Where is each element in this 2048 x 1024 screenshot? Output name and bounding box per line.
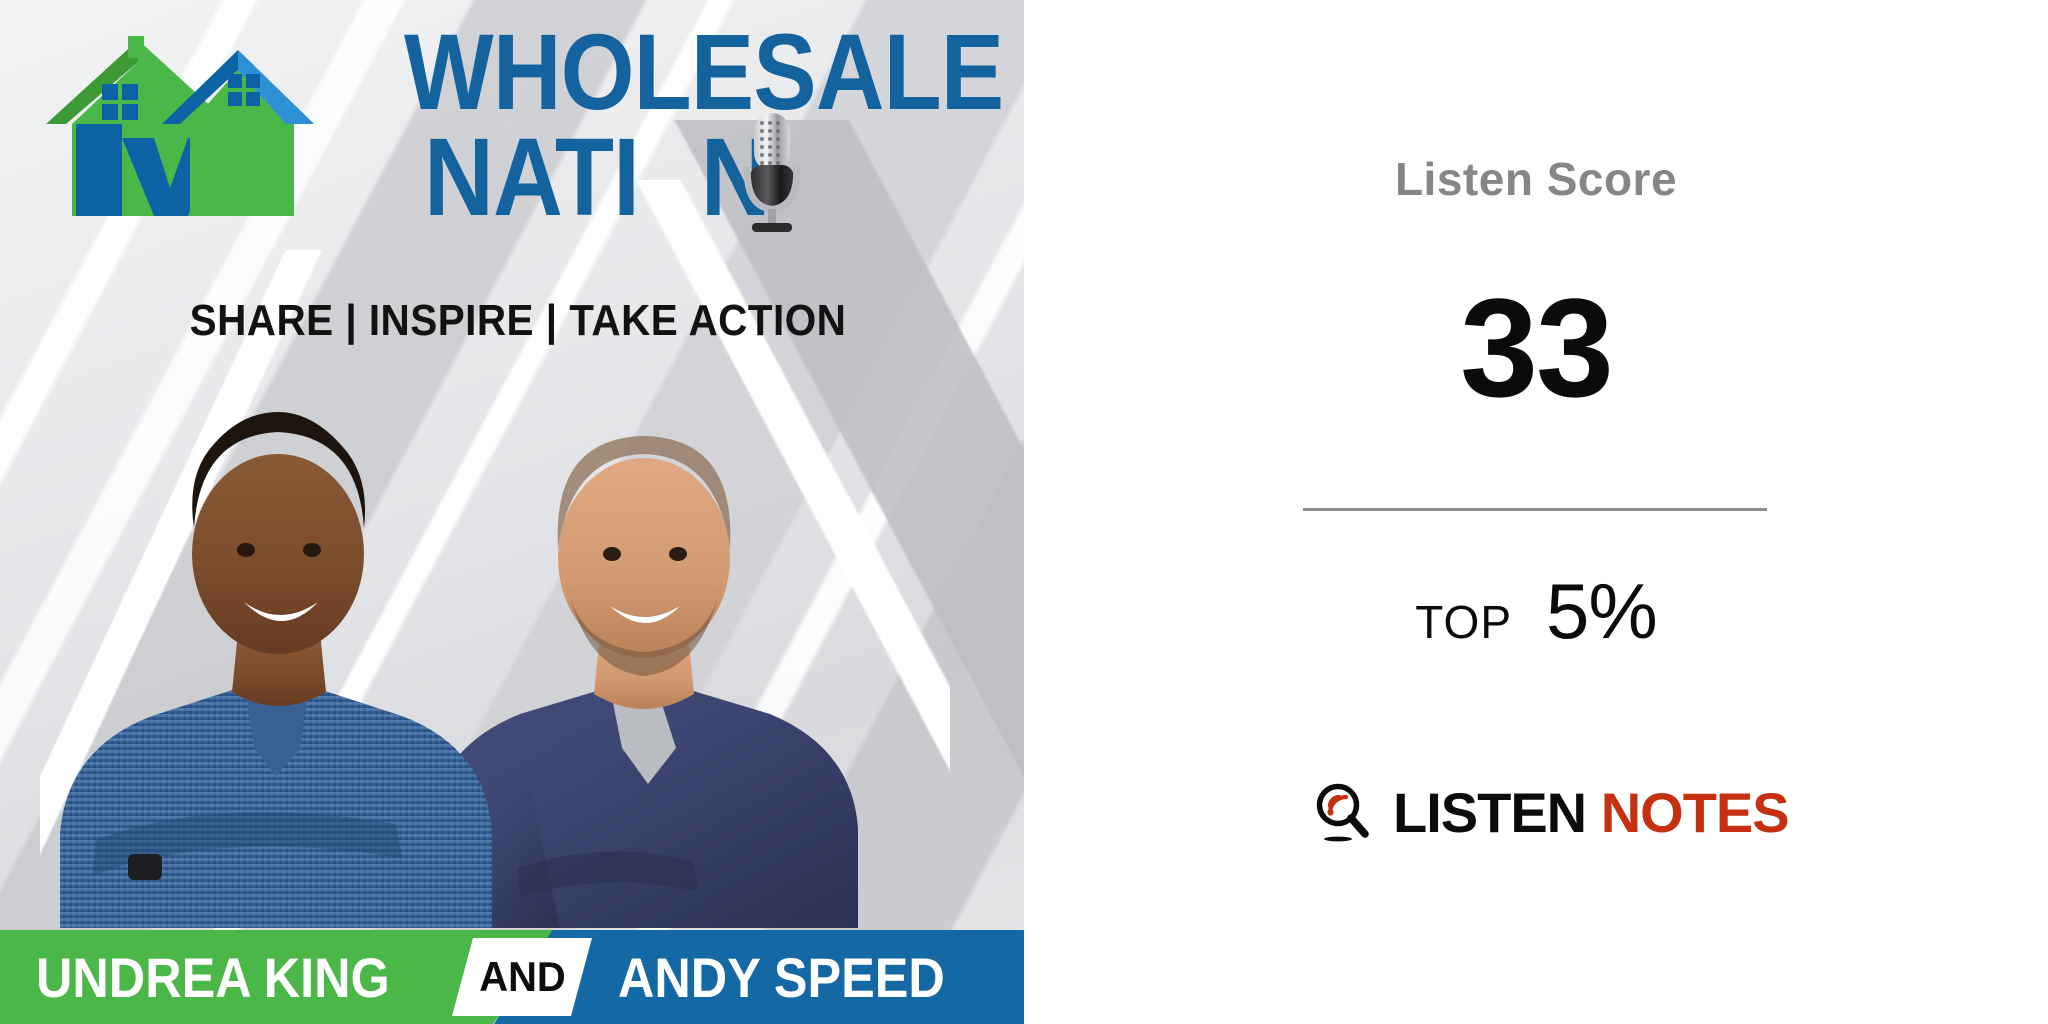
podcast-cover-art[interactable]: WHOLESALE NATIN	[0, 0, 1024, 1024]
listen-score-title: Listen Score	[1024, 152, 2048, 206]
brand-line-2: NATIN	[424, 123, 770, 233]
wholesale-nation-house-logo-icon	[42, 28, 332, 248]
score-divider	[1303, 508, 1767, 511]
listen-score-card: WHOLESALE NATIN	[0, 0, 2048, 1024]
top-percentile-row: TOP 5%	[1024, 566, 2048, 657]
brand-wordmark: WHOLESALE NATIN	[404, 22, 1024, 235]
listen-notes-magnifier-rss-icon	[1315, 782, 1371, 844]
brand-line-2-before: NATI	[424, 116, 639, 239]
cover-tagline: SHARE | INSPIRE | TAKE ACTION	[141, 296, 895, 346]
listen-notes-wordmark: LISTEN NOTES	[1393, 780, 1789, 845]
host-right-name: ANDY SPEED	[618, 930, 945, 1024]
top-percentile-value: 5%	[1546, 566, 1657, 657]
host-left-name: UNDREA KING	[36, 930, 390, 1024]
listen-score-panel: Listen Score 33 TOP 5% LISTEN NOTES	[1024, 0, 2048, 1024]
listen-notes-word-listen: LISTEN	[1393, 781, 1586, 844]
brand-line-1: WHOLESALE	[404, 22, 950, 121]
host-left-figure	[60, 412, 492, 928]
banner-and-label: AND	[479, 953, 565, 1001]
hosts-name-banner: UNDREA KING ANDY SPEED AND	[0, 930, 1024, 1024]
listen-notes-word-notes: NOTES	[1601, 781, 1789, 844]
banner-and-chip: AND	[452, 938, 592, 1016]
listen-notes-logo[interactable]: LISTEN NOTES	[1315, 780, 1789, 845]
microphone-icon	[736, 109, 808, 237]
host-right-figure	[430, 436, 858, 928]
listen-score-value: 33	[1024, 278, 2048, 418]
top-percentile-label: TOP	[1415, 595, 1512, 649]
